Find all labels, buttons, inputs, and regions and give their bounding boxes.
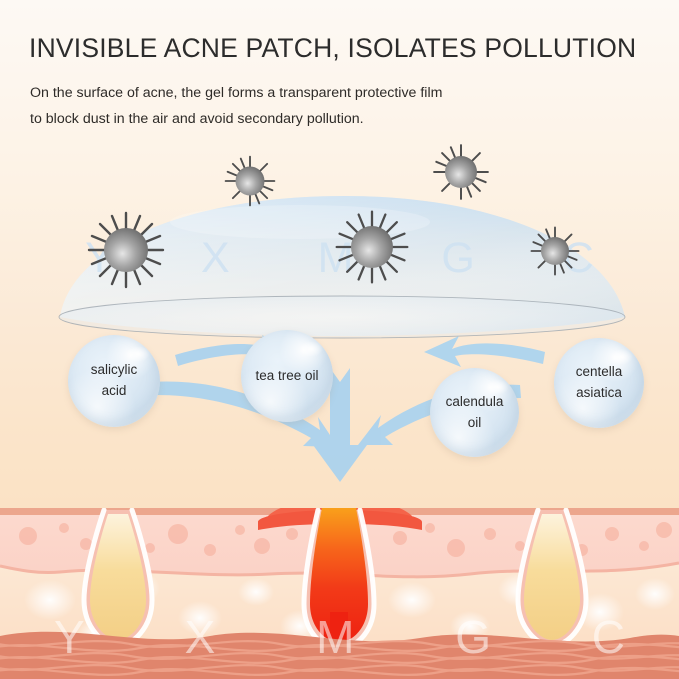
description-line-2: to block dust in the air and avoid secon… xyxy=(30,111,364,127)
bubble-label-line2: asiatica xyxy=(570,383,629,404)
skin-cross-section xyxy=(0,508,679,679)
ingredient-bubble-tea-tree-oil[interactable]: tea tree oil xyxy=(241,330,333,422)
bubble-label-line1: centella xyxy=(570,362,629,383)
infographic-canvas: Y X M G C xyxy=(0,0,679,679)
page-title: INVISIBLE ACNE PATCH, ISOLATES POLLUTION xyxy=(29,33,636,64)
description-line-1: On the surface of acne, the gel forms a … xyxy=(30,85,442,101)
bubble-label-line1: salicylic xyxy=(85,360,144,381)
ingredient-bubble-centella-asiatica[interactable]: centella asiatica xyxy=(554,338,644,428)
ingredient-bubble-salicylic-acid[interactable]: salicylic acid xyxy=(68,335,160,427)
bubble-label-line2: acid xyxy=(85,381,144,402)
bubble-label-line2: oil xyxy=(440,413,510,434)
ingredient-bubble-calendula-oil[interactable]: calendula oil xyxy=(430,368,519,457)
bubble-label-line1: tea tree oil xyxy=(249,366,324,387)
bubble-gloss xyxy=(299,341,323,357)
bubble-label-line1: calendula xyxy=(440,392,510,413)
